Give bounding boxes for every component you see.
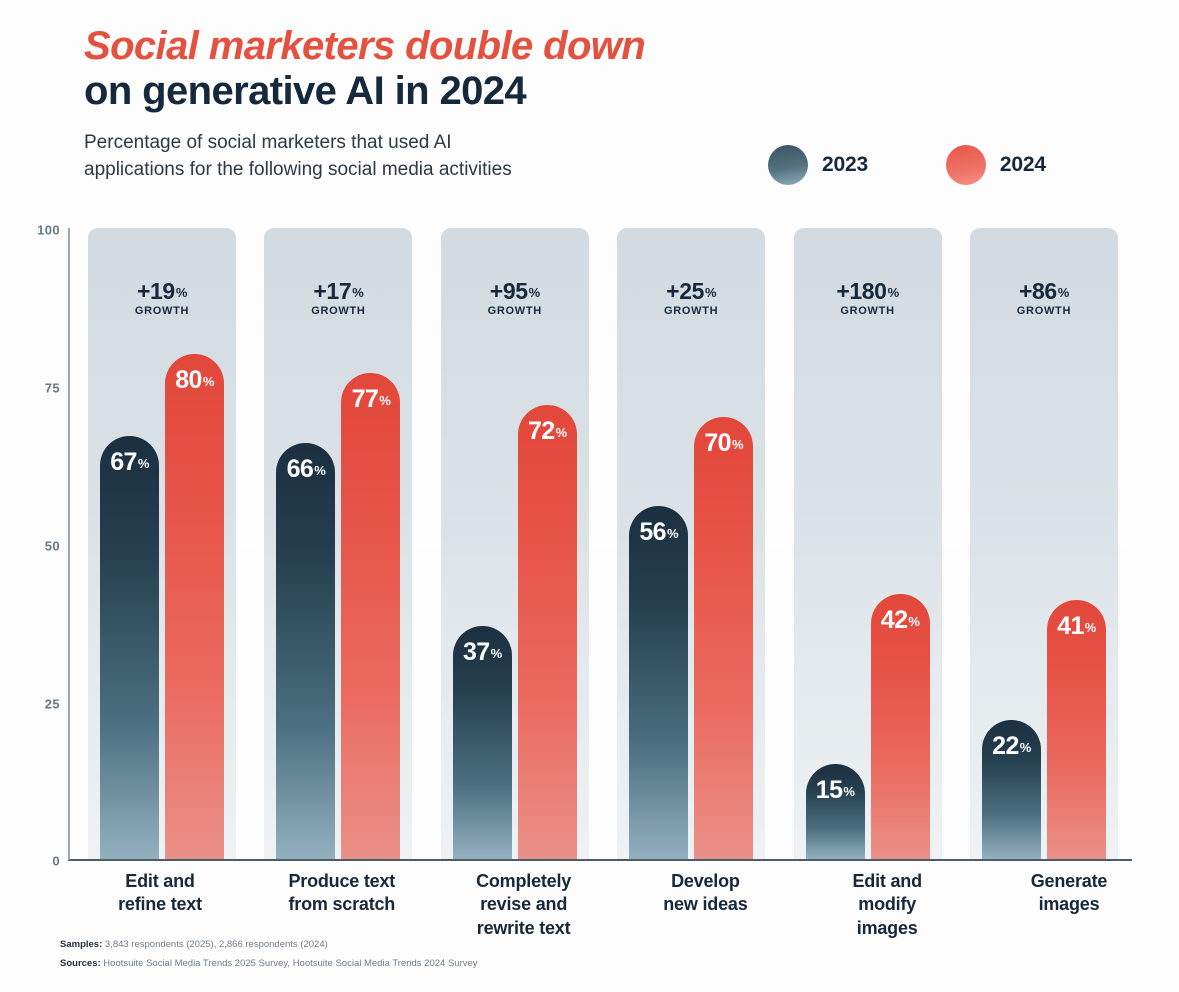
footnote-sources-label: Sources: xyxy=(60,958,101,969)
bars: 22% 41% xyxy=(970,228,1118,859)
growth-value: +180% xyxy=(794,280,942,303)
bar-2024[interactable]: 42% xyxy=(871,594,930,859)
bar-value-2023: 67% xyxy=(100,450,159,475)
footnote-sources-text: Hootsuite Social Media Trends 2025 Surve… xyxy=(103,958,477,969)
x-axis-label-line: Completely xyxy=(450,870,598,893)
growth-value: +95% xyxy=(441,280,589,303)
bars: 15% 42% xyxy=(794,228,942,859)
legend-item-2023[interactable]: 2023 xyxy=(768,145,868,185)
growth-word: GROWTH xyxy=(970,306,1118,317)
growth-word: GROWTH xyxy=(794,306,942,317)
x-axis-label-completely-revise-and-rewrite-text: Completely revise and rewrite text xyxy=(450,870,598,940)
growth-annotation: +86% GROWTH xyxy=(970,280,1118,317)
x-axis-labels: Edit and refine text Produce text from s… xyxy=(68,870,1157,940)
infographic-root: Social marketers double down on generati… xyxy=(0,0,1179,992)
chart-subtitle: Percentage of social marketers that used… xyxy=(84,130,704,184)
growth-annotation: +180% GROWTH xyxy=(794,280,942,317)
growth-word: GROWTH xyxy=(264,306,412,317)
legend-label-2024: 2024 xyxy=(1000,153,1046,177)
x-axis-label-line: Generate xyxy=(995,870,1143,893)
y-axis-tick-25: 25 xyxy=(45,697,60,712)
x-axis-label-line: new ideas xyxy=(631,893,779,916)
x-axis-label-edit-and-refine-text: Edit and refine text xyxy=(86,870,234,940)
x-axis-label-edit-and-modify-images: Edit and modify images xyxy=(813,870,961,940)
footnote-samples: Samples: 3,843 respondents (2025), 2,866… xyxy=(60,936,760,955)
x-axis-label-line: images xyxy=(813,917,961,940)
bar-2024[interactable]: 72% xyxy=(518,405,577,859)
growth-word: GROWTH xyxy=(88,306,236,317)
footnotes: Samples: 3,843 respondents (2025), 2,866… xyxy=(60,936,760,973)
y-axis: 100 75 50 25 0 xyxy=(22,228,68,861)
bar-2024[interactable]: 80% xyxy=(165,354,224,859)
bar-2023[interactable]: 37% xyxy=(453,626,512,859)
x-axis-label-develop-new-ideas: Develop new ideas xyxy=(631,870,779,940)
x-axis-label-produce-text-from-scratch: Produce text from scratch xyxy=(268,870,416,940)
growth-annotation: +19% GROWTH xyxy=(88,280,236,317)
bar-2024[interactable]: 70% xyxy=(694,417,753,859)
growth-value: +86% xyxy=(970,280,1118,303)
bar-2023[interactable]: 22% xyxy=(982,720,1041,859)
x-axis-label-line: images xyxy=(995,893,1143,916)
footnote-sources: Sources: Hootsuite Social Media Trends 2… xyxy=(60,955,760,974)
legend-item-2024[interactable]: 2024 xyxy=(946,145,1046,185)
chart-subtitle-line-1: Percentage of social marketers that used… xyxy=(84,130,704,157)
bar-group-edit-and-modify-images: +180% GROWTH 15% 42% xyxy=(794,228,942,859)
bar-group-completely-revise-and-rewrite-text: +95% GROWTH 37% 72% xyxy=(441,228,589,859)
bars: 56% 70% xyxy=(617,228,765,859)
x-axis-label-generate-images: Generate images xyxy=(995,870,1143,940)
bar-2023[interactable]: 66% xyxy=(276,443,335,859)
bar-2024[interactable]: 77% xyxy=(341,373,400,859)
bar-value-2024: 77% xyxy=(341,387,400,412)
bars: 67% 80% xyxy=(88,228,236,859)
x-axis-label-line: Develop xyxy=(631,870,779,893)
legend-label-2023: 2023 xyxy=(822,153,868,177)
bar-group-generate-images: +86% GROWTH 22% 41% xyxy=(970,228,1118,859)
bar-value-2023: 22% xyxy=(982,734,1041,759)
bar-group-edit-and-refine-text: +19% GROWTH 67% 80% xyxy=(88,228,236,859)
x-axis-label-line: from scratch xyxy=(268,893,416,916)
bar-2023[interactable]: 15% xyxy=(806,764,865,859)
x-axis-label-line: refine text xyxy=(86,893,234,916)
bar-value-2023: 15% xyxy=(806,778,865,803)
x-axis-label-line: Produce text xyxy=(268,870,416,893)
bar-2023[interactable]: 67% xyxy=(100,436,159,859)
y-axis-tick-50: 50 xyxy=(45,539,60,554)
growth-value: +19% xyxy=(88,280,236,303)
growth-annotation: +95% GROWTH xyxy=(441,280,589,317)
x-axis-label-line: Edit and xyxy=(813,870,961,893)
growth-value: +17% xyxy=(264,280,412,303)
page-title-line-2: on generative AI in 2024 xyxy=(84,69,1104,114)
bar-groups: +19% GROWTH 67% 80% xyxy=(70,228,1132,859)
bar-value-2023: 66% xyxy=(276,457,335,482)
bars: 66% 77% xyxy=(264,228,412,859)
bar-value-2023: 56% xyxy=(629,520,688,545)
bar-value-2023: 37% xyxy=(453,640,512,665)
bar-value-2024: 42% xyxy=(871,608,930,633)
footnote-samples-text: 3,843 respondents (2025), 2,866 responde… xyxy=(105,939,328,950)
chart-legend: 2023 2024 xyxy=(768,145,1046,185)
growth-value: +25% xyxy=(617,280,765,303)
bars: 37% 72% xyxy=(441,228,589,859)
chart-subtitle-line-2: applications for the following social me… xyxy=(84,157,704,184)
bar-group-produce-text-from-scratch: +17% GROWTH 66% 77% xyxy=(264,228,412,859)
plot-area: +19% GROWTH 67% 80% xyxy=(68,228,1132,861)
bar-value-2024: 41% xyxy=(1047,614,1106,639)
growth-annotation: +25% GROWTH xyxy=(617,280,765,317)
growth-word: GROWTH xyxy=(441,306,589,317)
page-title-line-1: Social marketers double down xyxy=(84,24,1104,69)
x-axis-label-line: modify xyxy=(813,893,961,916)
y-axis-tick-100: 100 xyxy=(37,223,60,238)
legend-swatch-circle-icon-2023 xyxy=(768,145,808,185)
bar-value-2024: 80% xyxy=(165,368,224,393)
y-axis-tick-75: 75 xyxy=(45,381,60,396)
x-axis-label-line: revise and xyxy=(450,893,598,916)
bar-value-2024: 72% xyxy=(518,419,577,444)
footnote-samples-label: Samples: xyxy=(60,939,102,950)
bar-group-develop-new-ideas: +25% GROWTH 56% 70% xyxy=(617,228,765,859)
growth-word: GROWTH xyxy=(617,306,765,317)
x-axis-label-line: Edit and xyxy=(86,870,234,893)
legend-swatch-circle-icon-2024 xyxy=(946,145,986,185)
bar-value-2024: 70% xyxy=(694,431,753,456)
growth-annotation: +17% GROWTH xyxy=(264,280,412,317)
y-axis-tick-0: 0 xyxy=(52,854,60,869)
bar-2024[interactable]: 41% xyxy=(1047,600,1106,859)
bar-chart: 100 75 50 25 0 +19% GROWTH xyxy=(22,228,1132,868)
bar-2023[interactable]: 56% xyxy=(629,506,688,859)
